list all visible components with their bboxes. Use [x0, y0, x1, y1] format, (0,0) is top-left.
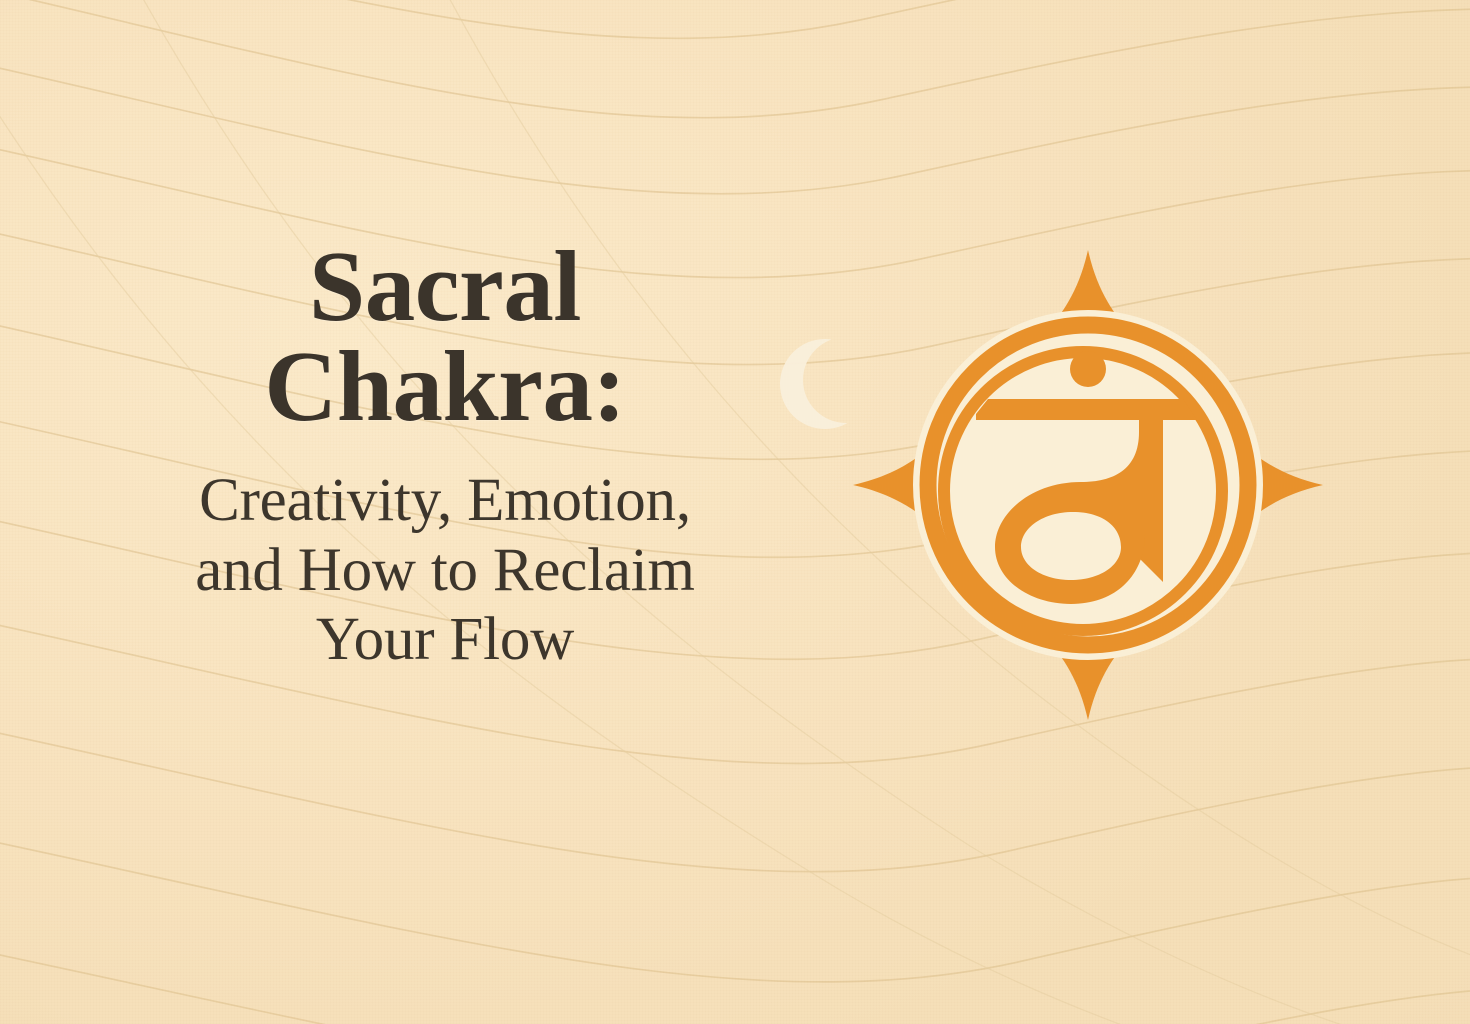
title-line-1: Sacral — [309, 230, 581, 342]
title-line-2: Chakra: — [264, 330, 625, 442]
subtitle-line-3: Your Flow — [316, 606, 574, 673]
poster-canvas: Sacral Chakra: Creativity, Emotion, and … — [0, 0, 1470, 1024]
headline-block: Sacral Chakra: Creativity, Emotion, and … — [60, 236, 830, 675]
svadhisthana-chakra-icon — [845, 242, 1331, 728]
subtitle-line-2: and How to Reclaim — [195, 537, 695, 604]
page-title: Sacral Chakra: — [60, 236, 830, 436]
page-subtitle: Creativity, Emotion, and How to Reclaim … — [60, 466, 830, 675]
shirorekha-bar — [976, 399, 1197, 420]
subtitle-line-1: Creativity, Emotion, — [199, 467, 691, 534]
anusvara-dot — [1070, 351, 1106, 387]
